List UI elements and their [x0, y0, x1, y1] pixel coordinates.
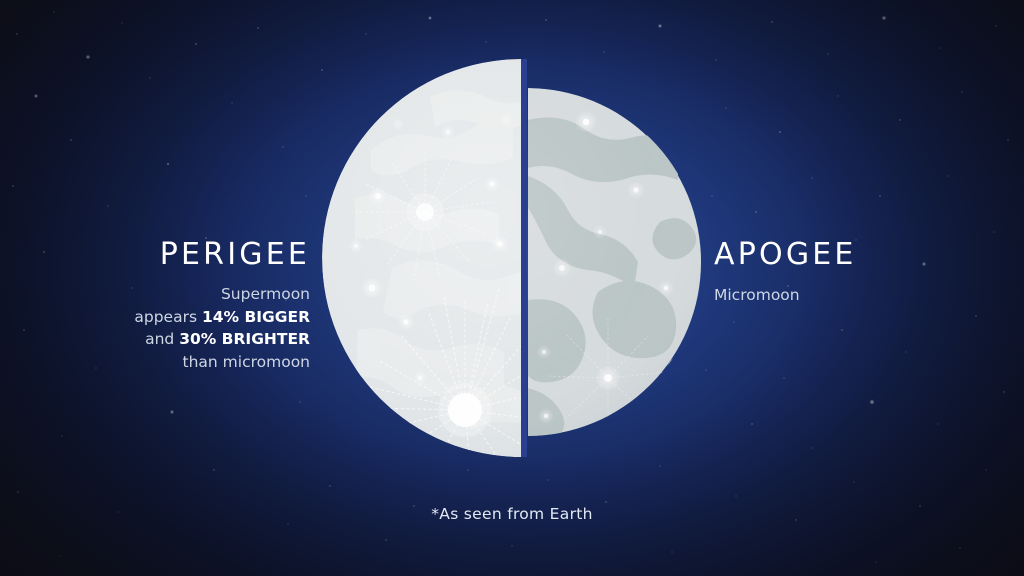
apogee-label-block: APOGEE Micromoon: [714, 240, 994, 307]
text-segment: Supermoon: [221, 285, 310, 303]
apogee-title: APOGEE: [714, 240, 994, 270]
perigee-title: PERIGEE: [40, 240, 310, 270]
text-segment: Micromoon: [714, 286, 800, 304]
apogee-subtitle-line: Micromoon: [714, 284, 994, 307]
footnote-text: *As seen from Earth: [0, 505, 1024, 523]
text-segment: than micromoon: [183, 353, 310, 371]
infographic-canvas: PERIGEE Supermoon appears 14% BIGGER and…: [0, 0, 1024, 576]
perigee-subtitle: Supermoon appears 14% BIGGER and 30% BRI…: [40, 283, 310, 373]
perigee-subtitle-line: than micromoon: [40, 351, 310, 374]
apogee-subtitle: Micromoon: [714, 284, 994, 307]
text-segment: appears: [134, 308, 202, 326]
perigee-subtitle-line: appears 14% BIGGER: [40, 306, 310, 329]
perigee-subtitle-line: and 30% BRIGHTER: [40, 328, 310, 351]
hemisphere-divider-line: [521, 59, 527, 457]
perigee-label-block: PERIGEE Supermoon appears 14% BIGGER and…: [40, 240, 310, 373]
text-segment-emphasis: 30% BRIGHTER: [179, 330, 310, 348]
text-segment: and: [145, 330, 179, 348]
text-segment-emphasis: 14% BIGGER: [202, 308, 310, 326]
perigee-subtitle-line: Supermoon: [40, 283, 310, 306]
